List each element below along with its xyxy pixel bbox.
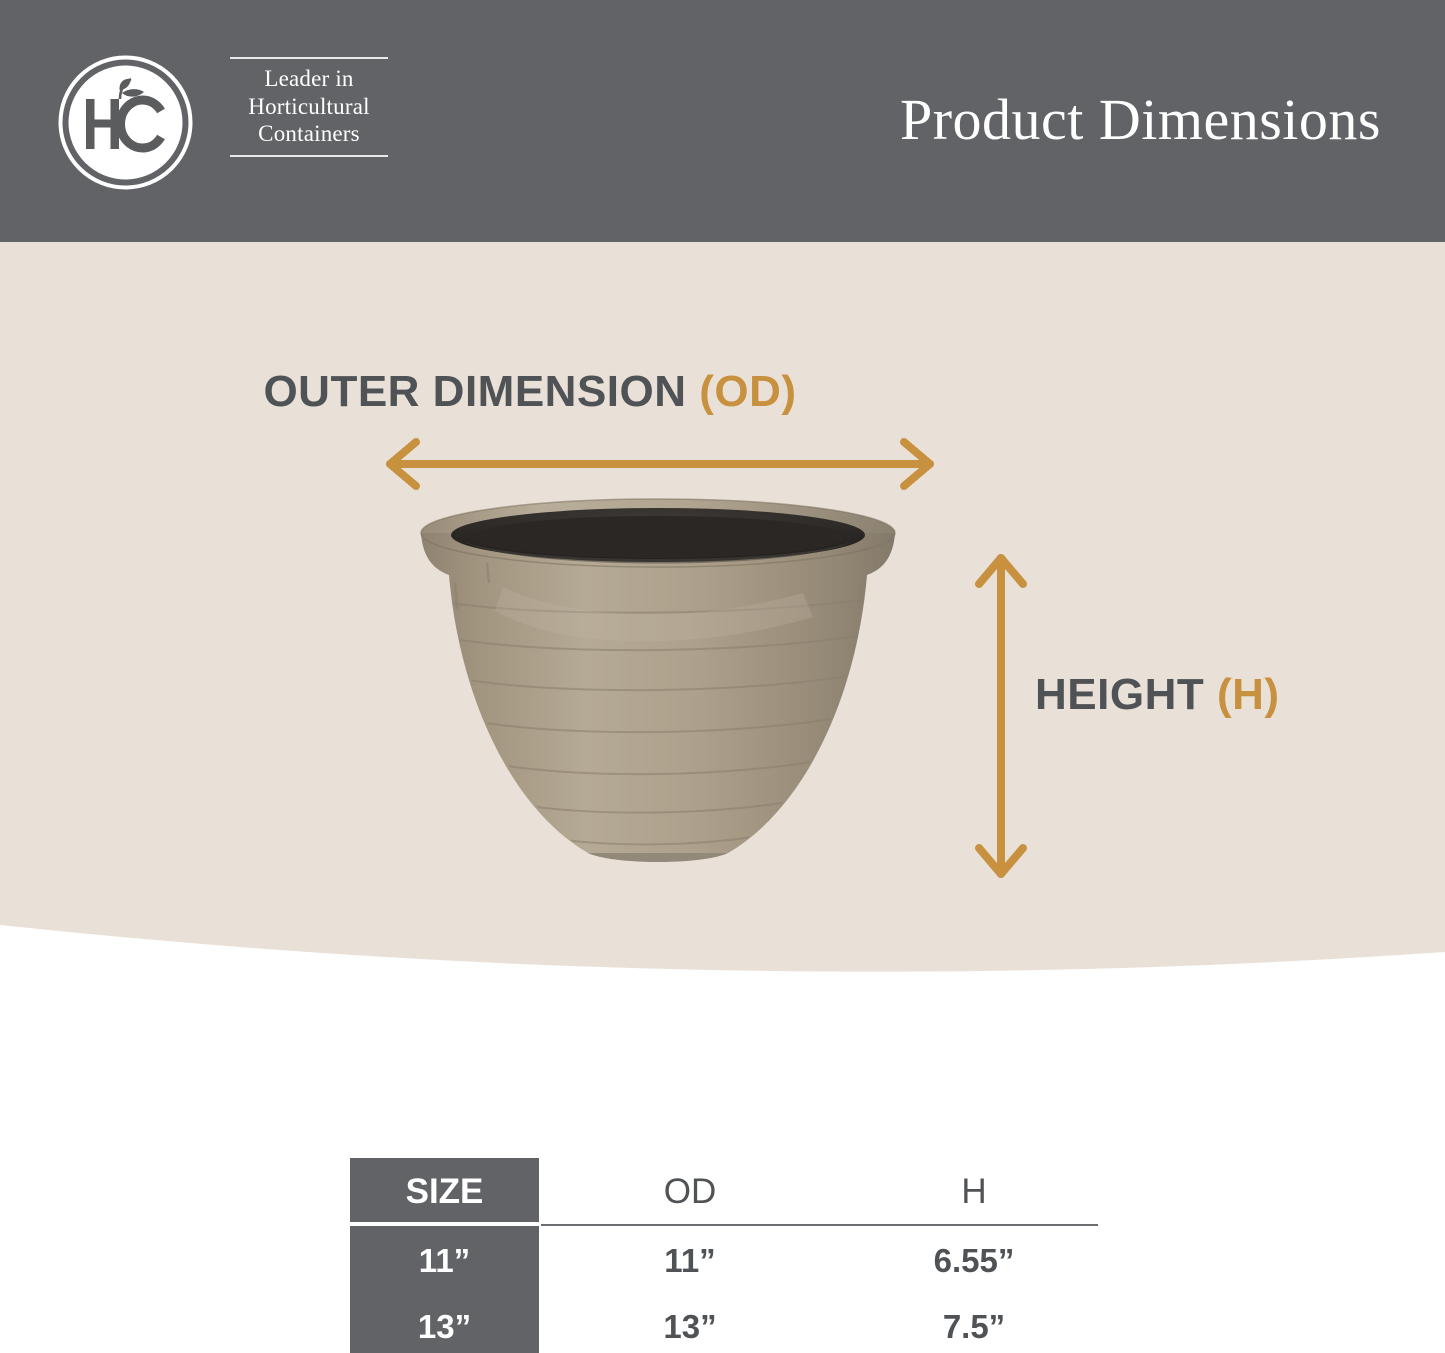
brand-logo: ® Leader in Horticultural Containers bbox=[58, 55, 388, 190]
outer-dimension-arrow-icon bbox=[380, 436, 940, 492]
header-band: ® Leader in Horticultural Containers Pro… bbox=[0, 0, 1445, 242]
height-arrow-icon bbox=[968, 548, 1034, 884]
table-row: 13” bbox=[350, 1304, 539, 1350]
page-title: Product Dimensions bbox=[900, 86, 1381, 153]
height-label-accent: (H) bbox=[1217, 670, 1280, 719]
outer-dimension-label-accent: (OD) bbox=[699, 367, 796, 416]
dimensions-table: SIZE OD H 11” 11” 6.55” 13” 13” 7.5” bbox=[350, 1158, 1098, 1353]
height-label: HEIGHT (H) bbox=[1035, 670, 1280, 720]
table-header-size: SIZE bbox=[350, 1172, 539, 1212]
table-row: 7.5” bbox=[850, 1304, 1098, 1350]
outer-dimension-label-main: OUTER DIMENSION bbox=[263, 367, 699, 416]
table-row: 6.55” bbox=[850, 1238, 1098, 1284]
height-label-main: HEIGHT bbox=[1035, 670, 1217, 719]
table-row: 11” bbox=[350, 1238, 539, 1284]
table-row: 13” bbox=[560, 1304, 820, 1350]
tagline-text: Leader in Horticultural Containers bbox=[230, 59, 388, 155]
logo-tagline: Leader in Horticultural Containers bbox=[230, 57, 388, 157]
table-header-od: OD bbox=[560, 1172, 820, 1212]
table-header-divider bbox=[541, 1224, 1098, 1226]
table-row: 11” bbox=[560, 1238, 820, 1284]
registered-trademark-icon: ® bbox=[170, 105, 180, 120]
planter-product-image bbox=[383, 497, 933, 882]
outer-dimension-label: OUTER DIMENSION (OD) bbox=[0, 367, 1060, 417]
tagline-rule-bottom bbox=[230, 155, 388, 157]
hc-logo-icon: ® bbox=[58, 55, 193, 190]
product-dimensions-infographic: ® Leader in Horticultural Containers Pro… bbox=[0, 0, 1445, 1353]
table-header-h: H bbox=[850, 1172, 1098, 1212]
